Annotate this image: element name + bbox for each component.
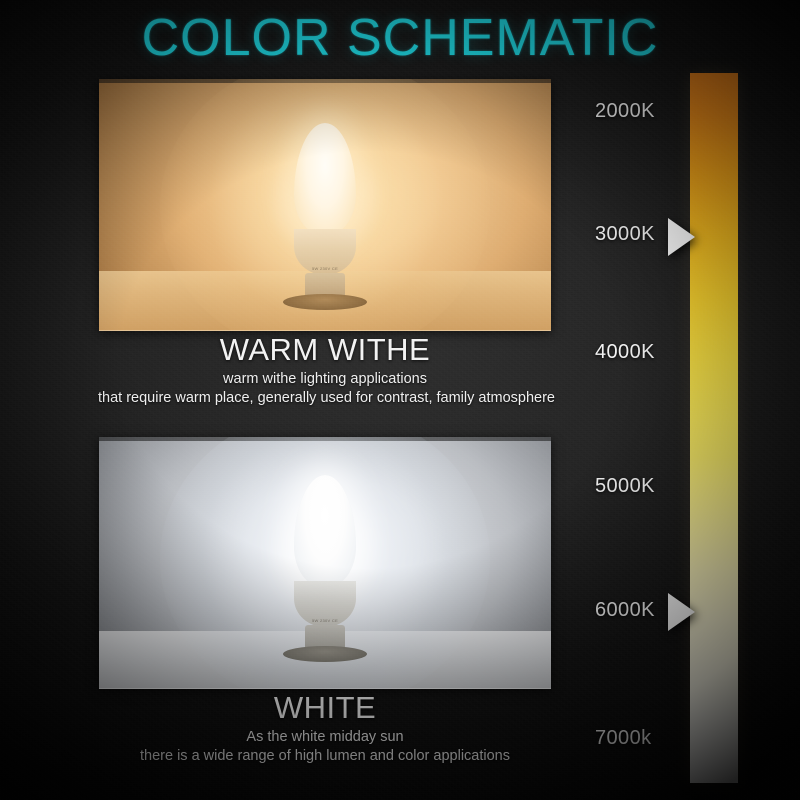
warm-white-description: warm withe lighting applications that re… [99,370,551,408]
kelvin-label-6000: 6000K [595,599,655,622]
white-description-line1: As the white midday sun [99,728,551,747]
white-photo-top-edge [99,437,551,441]
kelvin-label-2000: 2000K [595,100,655,123]
kelvin-label-4000: 4000K [595,341,655,364]
color-schematic-poster: COLOR SCHEMATIC 5W 230V CE WARM WITHE wa… [0,0,800,800]
warm-white-marker-triangle-icon [668,218,695,256]
white-caption: WHITE As the white midday sun there is a… [99,691,551,766]
warm-white-description-line2: that require warm place, generally used … [98,389,550,408]
white-heading: WHITE [99,691,551,725]
kelvin-label-7000: 7000k [595,727,652,750]
cool-white-led-candle-bulb: 5W 230V CE [283,475,367,662]
white-description-line2: there is a wide range of high lumen and … [99,747,551,766]
warm-led-candle-bulb: 5W 230V CE [283,123,367,310]
warm-white-heading: WARM WITHE [99,333,551,367]
warm-bulb-base-plate [283,294,367,310]
warm-bulb-globe [294,123,356,235]
warm-bulb-marking: 5W 230V CE [312,266,338,271]
white-bulb-globe [294,475,356,587]
warm-white-description-line1: warm withe lighting applications [99,370,551,389]
cool-white-bulb-photo: 5W 230V CE [99,437,551,689]
white-bulb-base-plate [283,646,367,662]
kelvin-label-5000: 5000K [595,475,655,498]
white-description: As the white midday sun there is a wide … [99,728,551,766]
warm-photo-top-edge [99,79,551,83]
warm-bulb-neck: 5W 230V CE [294,229,356,275]
cool-white-marker-triangle-icon [668,593,695,631]
page-title: COLOR SCHEMATIC [0,12,800,64]
warm-white-caption: WARM WITHE warm withe lighting applicati… [99,333,551,408]
kelvin-label-3000: 3000K [595,223,655,246]
white-bulb-marking: 5W 230V CE [312,618,338,623]
warm-white-bulb-photo: 5W 230V CE [99,79,551,331]
white-bulb-neck: 5W 230V CE [294,581,356,627]
color-temperature-gradient-bar [690,73,738,783]
